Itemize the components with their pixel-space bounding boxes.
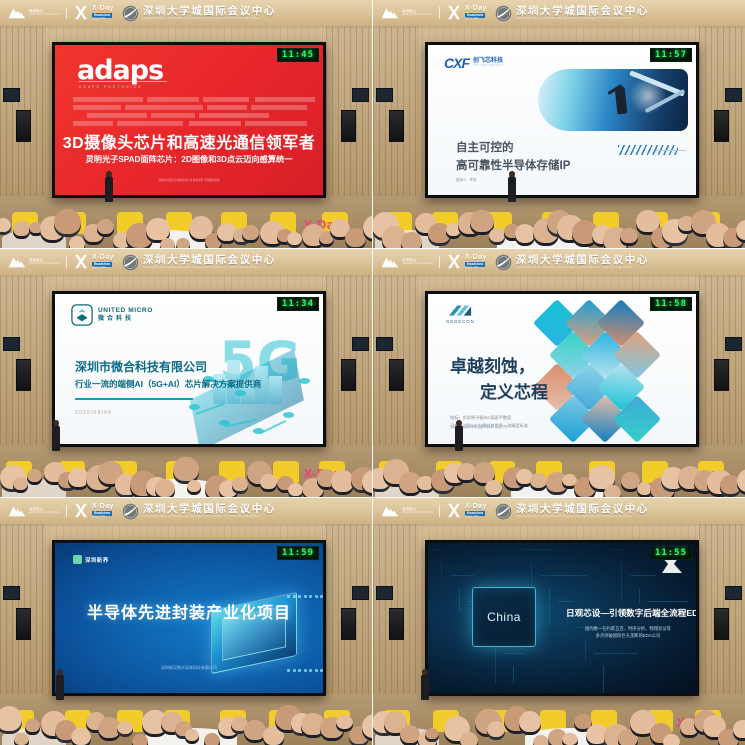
- venue-name-cn: 深圳大学城国际会议中心: [516, 504, 649, 515]
- xday-title: X-Day: [92, 254, 114, 261]
- audience-head: [132, 734, 148, 745]
- venue-banner: 深圳南山 INNOVATION NANSHAN X-Day Roadshow 路…: [373, 498, 745, 524]
- x-glyph-icon: [73, 503, 89, 518]
- audience-head: [14, 733, 29, 745]
- nanshan-brand-text: 深圳南山 INNOVATION NANSHAN: [29, 259, 60, 266]
- audience-head: [0, 706, 22, 734]
- nanshan-brand-text: 深圳南山 INNOVATION NANSHAN: [402, 259, 433, 266]
- logo-rule: [79, 81, 167, 82]
- decorative-bars: [73, 97, 309, 127]
- pcb-trace: [639, 588, 640, 603]
- audience-panel-1: X-Day: [0, 186, 372, 248]
- venue-name-cn: 深圳大学城国际会议中心: [516, 255, 649, 266]
- logo-text: 创飞芯科技CFX TECHNOLOGY: [473, 58, 504, 67]
- nanshan-brand-mark: 深圳南山 INNOVATION NANSHAN: [8, 256, 60, 268]
- audience-head: [362, 714, 372, 741]
- mountain-logo-icon: [8, 256, 26, 268]
- conference-photo-panel-2[interactable]: 深圳南山 INNOVATION NANSHAN X-Day Roadshow 路…: [373, 0, 745, 248]
- mountain-logo-icon: [381, 505, 399, 517]
- banner-divider: [66, 7, 67, 19]
- xday-logo: X-Day Roadshow 路演日 2025: [446, 5, 487, 20]
- venue-banner: 深圳南山 INNOVATION NANSHAN X-Day Roadshow 路…: [0, 249, 372, 275]
- audience-head: [288, 483, 304, 497]
- nanshan-brand-mark: 深圳南山 INNOVATION NANSHAN: [381, 256, 433, 268]
- venue-logo: 深圳大学城国际会议中心 INTERNATIONAL CONFERENCE CEN…: [122, 254, 276, 271]
- led-screen: CXF创飞芯科技CFX TECHNOLOGY自主可控的高可靠性半导体存储IP路演…: [428, 45, 696, 195]
- slide-subtitle: 国内唯一在约束互连、时序分析、物理验证等 多点突破国际巨头垄断的EDA公司: [566, 625, 690, 640]
- venue-text: 深圳大学城国际会议中心 INTERNATIONAL CONFERENCE CEN…: [143, 255, 276, 270]
- wall-monitor-left: [3, 88, 20, 102]
- pcb-trace: [513, 666, 514, 683]
- digital-clock-panel-1: 11:45: [277, 48, 319, 62]
- mountain-logo-icon: [381, 256, 399, 268]
- audience-head: [460, 732, 478, 745]
- xday-sub: 路演日 2025: [92, 18, 114, 20]
- led-screen: 深圳新界半导体先进封装产业化项目深圳新汉微半导体科技有限公司 11:59: [55, 543, 323, 693]
- audience-head: [487, 721, 505, 740]
- wall-monitor-left: [376, 586, 393, 600]
- artwork-node-6: [235, 390, 246, 396]
- chip-pin-row-0: [287, 595, 323, 598]
- slide-cxf: CXF创飞芯科技CFX TECHNOLOGY自主可控的高可靠性半导体存储IP路演…: [428, 45, 696, 195]
- wall-monitor-left: [3, 337, 20, 351]
- audience-head: [232, 477, 248, 494]
- pcb-trace: [504, 653, 524, 654]
- presenter-silhouette: [56, 674, 64, 700]
- conference-photo-panel-6[interactable]: 深圳南山 INNOVATION NANSHAN X-Day Roadshow 路…: [373, 498, 745, 745]
- audience-head: [0, 218, 11, 235]
- stage-speaker-left: [389, 110, 404, 142]
- nanshan-brand-mark: 深圳南山 INNOVATION NANSHAN: [8, 505, 60, 517]
- nanshan-brand-text: 深圳南山 INNOVATION NANSHAN: [29, 508, 60, 515]
- xday-title: X-Day: [465, 5, 487, 12]
- slide-title-line-1: 卓越刻蚀，: [450, 352, 535, 377]
- led-screen-frame[interactable]: 深圳新界半导体先进封装产业化项目深圳新汉微半导体科技有限公司 11:59: [52, 540, 326, 696]
- banner-divider: [439, 505, 440, 517]
- wall-monitor-left: [376, 337, 393, 351]
- led-screen-frame[interactable]: adapsADAPS PHOTONICS3D摄像头芯片和高速光通信领军者灵明光子…: [52, 42, 326, 198]
- wall-monitor-right: [725, 586, 742, 600]
- presenter-head: [456, 420, 462, 426]
- wall-monitor-right: [352, 337, 369, 351]
- audience-head: [489, 228, 505, 245]
- venue-logo: 深圳大学城国际会议中心 INTERNATIONAL CONFERENCE CEN…: [122, 5, 276, 22]
- led-screen: China日观芯设—引领数字后端全流程EDA国内唯一在约束互连、时序分析、物理验…: [428, 543, 696, 693]
- xday-logo: X-Day Roadshow 路演日 2025: [446, 503, 487, 518]
- slide-title: 深圳市微合科技有限公司: [75, 358, 207, 375]
- artwork-building-4: [269, 376, 282, 404]
- led-screen: UNITED MICRO微合科技5G深圳市微合科技有限公司行业一流的端侧AI（5…: [55, 294, 323, 444]
- logo-name: GEDECON: [446, 319, 475, 324]
- wall-monitor-right: [725, 337, 742, 351]
- presenter-silhouette: [105, 176, 113, 202]
- audience-head: [260, 474, 277, 492]
- venue-banner: 深圳南山 INNOVATION NANSHAN X-Day Roadshow 路…: [0, 0, 372, 26]
- slide-packaging: 深圳新界半导体先进封装产业化项目深圳新汉微半导体科技有限公司: [55, 543, 323, 693]
- pcb-trace: [540, 575, 588, 576]
- slide-adaps: adapsADAPS PHOTONICS3D摄像头芯片和高速光通信领军者灵明光子…: [55, 45, 323, 195]
- wall-monitor-left: [3, 586, 20, 600]
- logo-name-cn: 微合科技: [98, 316, 153, 322]
- pcb-trace: [558, 601, 574, 602]
- banner-divider: [439, 256, 440, 268]
- stage-speaker-left: [16, 359, 31, 391]
- conference-photo-panel-3[interactable]: 深圳南山 INNOVATION NANSHAN X-Day Roadshow 路…: [0, 249, 372, 497]
- banner-divider: [66, 505, 67, 517]
- slide-title: 半导体先进封装产业化项目: [55, 599, 323, 623]
- stage-speaker-left: [16, 608, 31, 640]
- artwork-node-3: [283, 412, 294, 418]
- pcb-trace: [630, 575, 656, 576]
- gedecon-mark-icon: [448, 304, 472, 318]
- logo-square-icon: [73, 555, 82, 564]
- presenter-silhouette: [421, 674, 429, 700]
- mountain-logo-icon: [8, 7, 26, 19]
- xday-text: X-Day Roadshow 路演日 2025: [465, 5, 487, 20]
- venue-name-cn: 深圳大学城国际会议中心: [143, 255, 276, 266]
- led-screen: GEDECON卓越刻蚀，定义芯程指标：实现原子级SiC表面平整度 马赫：达到Si…: [428, 294, 696, 444]
- led-screen-frame[interactable]: GEDECON卓越刻蚀，定义芯程指标：实现原子级SiC表面平整度 马赫：达到Si…: [425, 291, 699, 447]
- audience-head: [736, 220, 745, 243]
- nanshan-brand-text: 深圳南山 INNOVATION NANSHAN: [402, 10, 433, 17]
- stage-area: CXF创飞芯科技CFX TECHNOLOGY自主可控的高可靠性半导体存储IP路演…: [373, 26, 745, 248]
- venue-name-en: INTERNATIONAL CONFERENCE CENTER OF UNIVE…: [143, 516, 276, 519]
- chip-label: China: [487, 610, 521, 624]
- venue-text: 深圳大学城国际会议中心 INTERNATIONAL CONFERENCE CEN…: [143, 504, 276, 519]
- venue-text: 深圳大学城国际会议中心 INTERNATIONAL CONFERENCE CEN…: [516, 255, 649, 270]
- slide-presenter: 路演人：李恒: [456, 177, 476, 182]
- united-micro-badge-icon: [71, 304, 93, 326]
- brand-line-2: INNOVATION NANSHAN: [29, 263, 60, 266]
- xday-logo: X-Day Roadshow 路演日 2025: [73, 254, 114, 269]
- xday-logo: X-Day Roadshow 路演日 2025: [73, 503, 114, 518]
- audience-head: [242, 225, 259, 242]
- venue-text: 深圳大学城国际会议中心 INTERNATIONAL CONFERENCE CEN…: [143, 6, 276, 21]
- xday-text: X-Day Roadshow 路演日 2025: [92, 5, 114, 20]
- venue-name-en: INTERNATIONAL CONFERENCE CENTER OF UNIVE…: [143, 267, 276, 270]
- banner-divider: [439, 7, 440, 19]
- audience-head: [176, 238, 190, 248]
- slide-footnote: 深圳市灵明光子科技有限公司 版权所有 不得翻印转载: [55, 179, 323, 183]
- x-glyph-icon: [73, 254, 89, 269]
- venue-seal-icon: [495, 503, 512, 520]
- stage-speaker-left: [389, 359, 404, 391]
- wall-monitor-right: [352, 88, 369, 102]
- xday-title: X-Day: [465, 503, 487, 510]
- xday-text: X-Day Roadshow 路演日 2025: [92, 254, 114, 269]
- hero-shape-person: [615, 86, 628, 115]
- logo-name-cn: 深圳新界: [85, 556, 109, 564]
- venue-logo: 深圳大学城国际会议中心 INTERNATIONAL CONFERENCE CEN…: [122, 503, 276, 520]
- venue-name-cn: 深圳大学城国际会议中心: [516, 6, 649, 17]
- logo-name-en: CFX TECHNOLOGY: [473, 65, 504, 67]
- pcb-trace: [585, 640, 586, 661]
- china-chip: China: [472, 587, 536, 647]
- slide-subtitle: 行业一流的端侧AI（5G+AI）芯片解决方案提供商: [75, 378, 261, 390]
- audience-head: [160, 238, 175, 248]
- audience-head: [562, 733, 577, 745]
- led-screen-frame[interactable]: China日观芯设—引领数字后端全流程EDA国内唯一在约束互连、时序分析、物理验…: [425, 540, 699, 696]
- slide-title-line-2: 定义芯程: [480, 378, 548, 403]
- xday-logo: X-Day Roadshow 路演日 2025: [446, 254, 487, 269]
- slide-logo-subtext: ADAPS PHOTONICS: [79, 85, 143, 89]
- slide-logo: UNITED MICRO微合科技: [71, 304, 153, 326]
- stage-speaker-right: [341, 359, 356, 391]
- pcb-trace: [621, 562, 622, 603]
- xday-text: X-Day Roadshow 路演日 2025: [465, 503, 487, 518]
- logo-name-en: UNITED MICRO: [98, 308, 153, 315]
- stage-speaker-right: [714, 608, 729, 640]
- audience-head: [519, 711, 542, 735]
- xday-sub: 路演日 2025: [92, 516, 114, 518]
- stage-area: 深圳新界半导体先进封装产业化项目深圳新汉微半导体科技有限公司 11:59 X-D…: [0, 524, 372, 745]
- nanshan-brand-text: 深圳南山 INNOVATION NANSHAN: [402, 508, 433, 515]
- logo-text: UNITED MICRO微合科技: [98, 308, 153, 323]
- nanshan-brand-text: 深圳南山 INNOVATION NANSHAN: [29, 10, 60, 17]
- artwork-node-4: [299, 378, 310, 384]
- xday-text: X-Day Roadshow 路演日 2025: [92, 503, 114, 518]
- stage-speaker-right: [341, 608, 356, 640]
- audience-head: [604, 485, 621, 497]
- brand-line-2: INNOVATION NANSHAN: [29, 14, 60, 17]
- slide-logo: CXF创飞芯科技CFX TECHNOLOGY: [444, 55, 504, 71]
- venue-name-en: INTERNATIONAL CONFERENCE CENTER OF UNIVE…: [516, 267, 649, 270]
- venue-banner: 深圳南山 INNOVATION NANSHAN X-Day Roadshow 路…: [373, 249, 745, 275]
- pcb-trace: [594, 653, 638, 654]
- presenter-silhouette: [52, 425, 60, 451]
- stage-speaker-right: [341, 110, 356, 142]
- audience-head: [187, 480, 201, 495]
- wall-monitor-left: [376, 88, 393, 102]
- venue-text: 深圳大学城国际会议中心 INTERNATIONAL CONFERENCE CEN…: [516, 504, 649, 519]
- slide-subtitle: 灵明光子SPAD面阵芯片：2D图像和3D点云迈向感算统一: [55, 153, 323, 165]
- x-glyph-icon: [446, 254, 462, 269]
- stage-area: UNITED MICRO微合科技5G深圳市微合科技有限公司行业一流的端侧AI（5…: [0, 275, 372, 497]
- pcb-trace: [441, 562, 442, 575]
- brand-line-2: INNOVATION NANSHAN: [402, 14, 433, 17]
- xday-sub: 路演日 2025: [465, 18, 487, 20]
- audience-head: [530, 473, 547, 491]
- slide-logo: 深圳新界: [73, 555, 109, 564]
- led-screen: adapsADAPS PHOTONICS3D摄像头芯片和高速光通信领军者灵明光子…: [55, 45, 323, 195]
- artwork-link-2: [260, 420, 286, 434]
- stage-speaker-left: [16, 110, 31, 142]
- venue-seal-icon: [122, 254, 139, 271]
- pcb-trace: [612, 549, 624, 550]
- mountain-logo-icon: [381, 7, 399, 19]
- xday-logo: X-Day Roadshow 路演日 2025: [73, 5, 114, 20]
- audience-head: [54, 209, 81, 237]
- venue-banner: 深圳南山 INNOVATION NANSHAN X-Day Roadshow 路…: [373, 0, 745, 26]
- digital-clock-panel-3: 11:34: [277, 297, 319, 311]
- wall-monitor-right: [725, 88, 742, 102]
- presenter-head: [422, 669, 428, 675]
- stage-area: China日观芯设—引领数字后端全流程EDA国内唯一在约束互连、时序分析、物理验…: [373, 524, 745, 745]
- venue-name-en: INTERNATIONAL CONFERENCE CENTER OF UNIVE…: [143, 18, 276, 21]
- presenter-head: [57, 669, 63, 675]
- slide-date: 2025/09/04: [75, 410, 112, 416]
- led-screen-frame[interactable]: UNITED MICRO微合科技5G深圳市微合科技有限公司行业一流的端侧AI（5…: [52, 291, 326, 447]
- audience-head: [117, 721, 133, 738]
- pcb-trace: [450, 575, 474, 576]
- xday-sub: 路演日 2025: [92, 267, 114, 269]
- digital-clock-panel-6: 11:55: [650, 546, 692, 560]
- venue-seal-icon: [122, 503, 139, 520]
- audience-head: [27, 469, 43, 485]
- xday-sub: 路演日 2025: [465, 267, 487, 269]
- logo-mark: CXF: [444, 55, 469, 71]
- digital-clock-panel-2: 11:57: [650, 48, 692, 62]
- venue-seal-icon: [122, 5, 139, 22]
- mountain-logo-icon: [8, 505, 26, 517]
- brand-line-2: INNOVATION NANSHAN: [402, 263, 433, 266]
- stage-speaker-right: [714, 110, 729, 142]
- led-screen-frame[interactable]: CXF创飞芯科技CFX TECHNOLOGY自主可控的高可靠性半导体存储IP路演…: [425, 42, 699, 198]
- audience-head: [287, 232, 302, 248]
- audience-head: [485, 480, 502, 497]
- diamond-photo-mosaic: [534, 302, 694, 438]
- conference-photo-panel-5[interactable]: 深圳南山 INNOVATION NANSHAN X-Day Roadshow 路…: [0, 498, 372, 745]
- stage-area: adapsADAPS PHOTONICS3D摄像头芯片和高速光通信领军者灵明光子…: [0, 26, 372, 248]
- pcb-trace: [459, 588, 460, 611]
- venue-text: 深圳大学城国际会议中心 INTERNATIONAL CONFERENCE CEN…: [516, 6, 649, 21]
- xday-title: X-Day: [92, 503, 114, 510]
- digital-clock-panel-4: 11:58: [650, 297, 692, 311]
- venue-name-en: INTERNATIONAL CONFERENCE CENTER OF UNIVE…: [516, 516, 649, 519]
- rule-decoration: [656, 150, 686, 151]
- slide-gedecon: GEDECON卓越刻蚀，定义芯程指标：实现原子级SiC表面平整度 马赫：达到Si…: [428, 294, 696, 444]
- audience-head: [663, 734, 679, 745]
- stage-speaker-left: [389, 608, 404, 640]
- audience-head: [13, 477, 28, 493]
- venue-logo: 深圳大学城国际会议中心 INTERNATIONAL CONFERENCE CEN…: [495, 254, 649, 271]
- audience-head: [733, 720, 745, 741]
- venue-seal-icon: [495, 5, 512, 22]
- banner-divider: [66, 256, 67, 268]
- pcb-trace: [648, 601, 688, 602]
- photo-collage-grid: 深圳南山 INNOVATION NANSHAN X-Day Roadshow 路…: [0, 0, 745, 745]
- stage-area: GEDECON卓越刻蚀，定义芯程指标：实现原子级SiC表面平整度 马赫：达到Si…: [373, 275, 745, 497]
- digital-clock-panel-5: 11:59: [277, 546, 319, 560]
- venue-logo: 深圳大学城国际会议中心 INTERNATIONAL CONFERENCE CEN…: [495, 503, 649, 520]
- presenter-head: [106, 171, 112, 177]
- slide-title-line-1: 自主可控的: [456, 139, 514, 155]
- pcb-trace: [531, 562, 532, 589]
- audience-head: [244, 720, 266, 743]
- nanshan-brand-mark: 深圳南山 INNOVATION NANSHAN: [381, 505, 433, 517]
- xday-sub: 路演日 2025: [465, 516, 487, 518]
- slide-united-micro: UNITED MICRO微合科技5G深圳市微合科技有限公司行业一流的端侧AI（5…: [55, 294, 323, 444]
- slide-hero-image: [538, 69, 688, 131]
- presenter-silhouette: [508, 176, 516, 202]
- audience-head: [620, 228, 637, 246]
- presenter-head: [509, 171, 515, 177]
- pcb-trace: [432, 549, 442, 550]
- audience-head: [155, 479, 175, 497]
- slide-title: 3D摄像头芯片和高速光通信领军者: [55, 129, 323, 153]
- venue-logo: 深圳大学城国际会议中心 INTERNATIONAL CONFERENCE CEN…: [495, 5, 649, 22]
- artwork-node-0: [189, 404, 200, 410]
- conference-photo-panel-4[interactable]: 深圳南山 INNOVATION NANSHAN X-Day Roadshow 路…: [373, 249, 745, 497]
- wall-monitor-right: [352, 586, 369, 600]
- nanshan-brand-mark: 深圳南山 INNOVATION NANSHAN: [381, 7, 433, 19]
- xday-title: X-Day: [465, 254, 487, 261]
- slide-title: 日观芯设—引领数字后端全流程EDA: [566, 607, 690, 619]
- x-glyph-icon: [446, 503, 462, 518]
- pcb-trace: [549, 588, 550, 625]
- brand-line-2: INNOVATION NANSHAN: [29, 512, 60, 515]
- xday-text: X-Day Roadshow 路演日 2025: [465, 254, 487, 269]
- audience-head: [425, 728, 439, 743]
- venue-name-en: INTERNATIONAL CONFERENCE CENTER OF UNIVE…: [516, 18, 649, 21]
- audience-head: [97, 219, 114, 237]
- x-glyph-icon: [446, 5, 462, 20]
- pcb-trace: [522, 549, 556, 550]
- nanshan-brand-mark: 深圳南山 INNOVATION NANSHAN: [8, 7, 60, 19]
- venue-banner: 深圳南山 INNOVATION NANSHAN X-Day Roadshow 路…: [0, 498, 372, 524]
- slide-logo: GEDECON: [446, 304, 475, 324]
- venue-seal-icon: [495, 254, 512, 271]
- audience-head: [25, 719, 40, 734]
- audience-head: [204, 733, 220, 745]
- presenter-head: [53, 420, 59, 426]
- venue-name-cn: 深圳大学城国际会议中心: [143, 504, 276, 515]
- x-glyph-icon: [73, 5, 89, 20]
- xday-title: X-Day: [92, 5, 114, 12]
- slide-footnote: 深圳新汉微半导体科技有限公司: [55, 665, 323, 671]
- presenter-silhouette: [455, 425, 463, 451]
- slide-eda: China日观芯设—引领数字后端全流程EDA国内唯一在约束互连、时序分析、物理验…: [428, 543, 696, 693]
- audience-panel-4: X-Day: [373, 435, 745, 497]
- title-rule: [75, 398, 193, 400]
- audience-head: [185, 729, 199, 744]
- audience-panel-2: X-Day: [373, 186, 745, 248]
- audience-head: [13, 221, 30, 239]
- stage-speaker-right: [714, 359, 729, 391]
- venue-name-cn: 深圳大学城国际会议中心: [143, 6, 276, 17]
- brand-line-2: INNOVATION NANSHAN: [402, 512, 433, 515]
- conference-photo-panel-1[interactable]: 深圳南山 INNOVATION NANSHAN X-Day Roadshow 路…: [0, 0, 372, 248]
